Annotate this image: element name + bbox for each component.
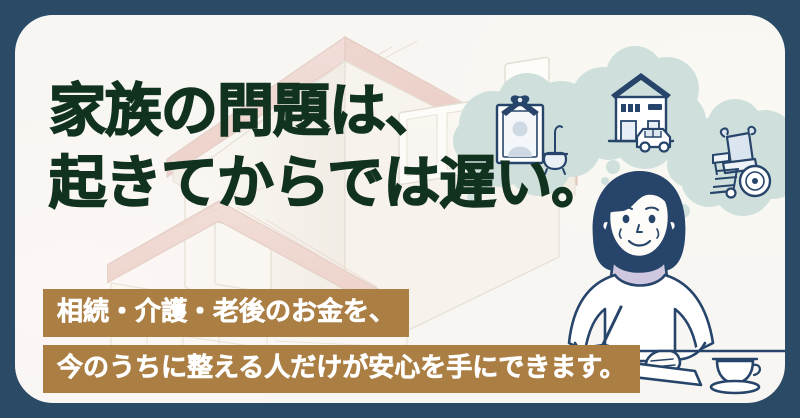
banner-panel: 家族の問題は、 起きてからでは遅い。 相続・介護・老後のお金を、 今のうちに整え… <box>15 15 785 403</box>
subcopy-band-row-2: 今のうちに整える人だけが安心を手にできます。 <box>43 345 640 393</box>
bubble-house <box>564 46 706 185</box>
subcopy-band-row-1: 相続・介護・老後のお金を、 <box>43 289 640 337</box>
headline: 家族の問題は、 起きてからでは遅い。 <box>49 75 607 219</box>
subcopy-band-2: 今のうちに整える人だけが安心を手にできます。 <box>43 345 640 393</box>
headline-line-1: 家族の問題は、 <box>49 75 607 147</box>
bubble-memorial <box>453 73 601 201</box>
subcopy-bands: 相続・介護・老後のお金を、 今のうちに整える人だけが安心を手にできます。 <box>43 289 640 393</box>
house-and-car-icon <box>609 73 673 152</box>
bubble-wheelchair <box>667 99 785 227</box>
subcopy-band-1: 相続・介護・老後のお金を、 <box>43 289 409 337</box>
wheelchair-icon <box>711 127 770 198</box>
memorial-portrait-icon <box>497 95 567 174</box>
headline-line-2: 起きてからでは遅い。 <box>49 147 607 219</box>
promo-banner: 家族の問題は、 起きてからでは遅い。 相続・介護・老後のお金を、 今のうちに整え… <box>0 0 800 418</box>
